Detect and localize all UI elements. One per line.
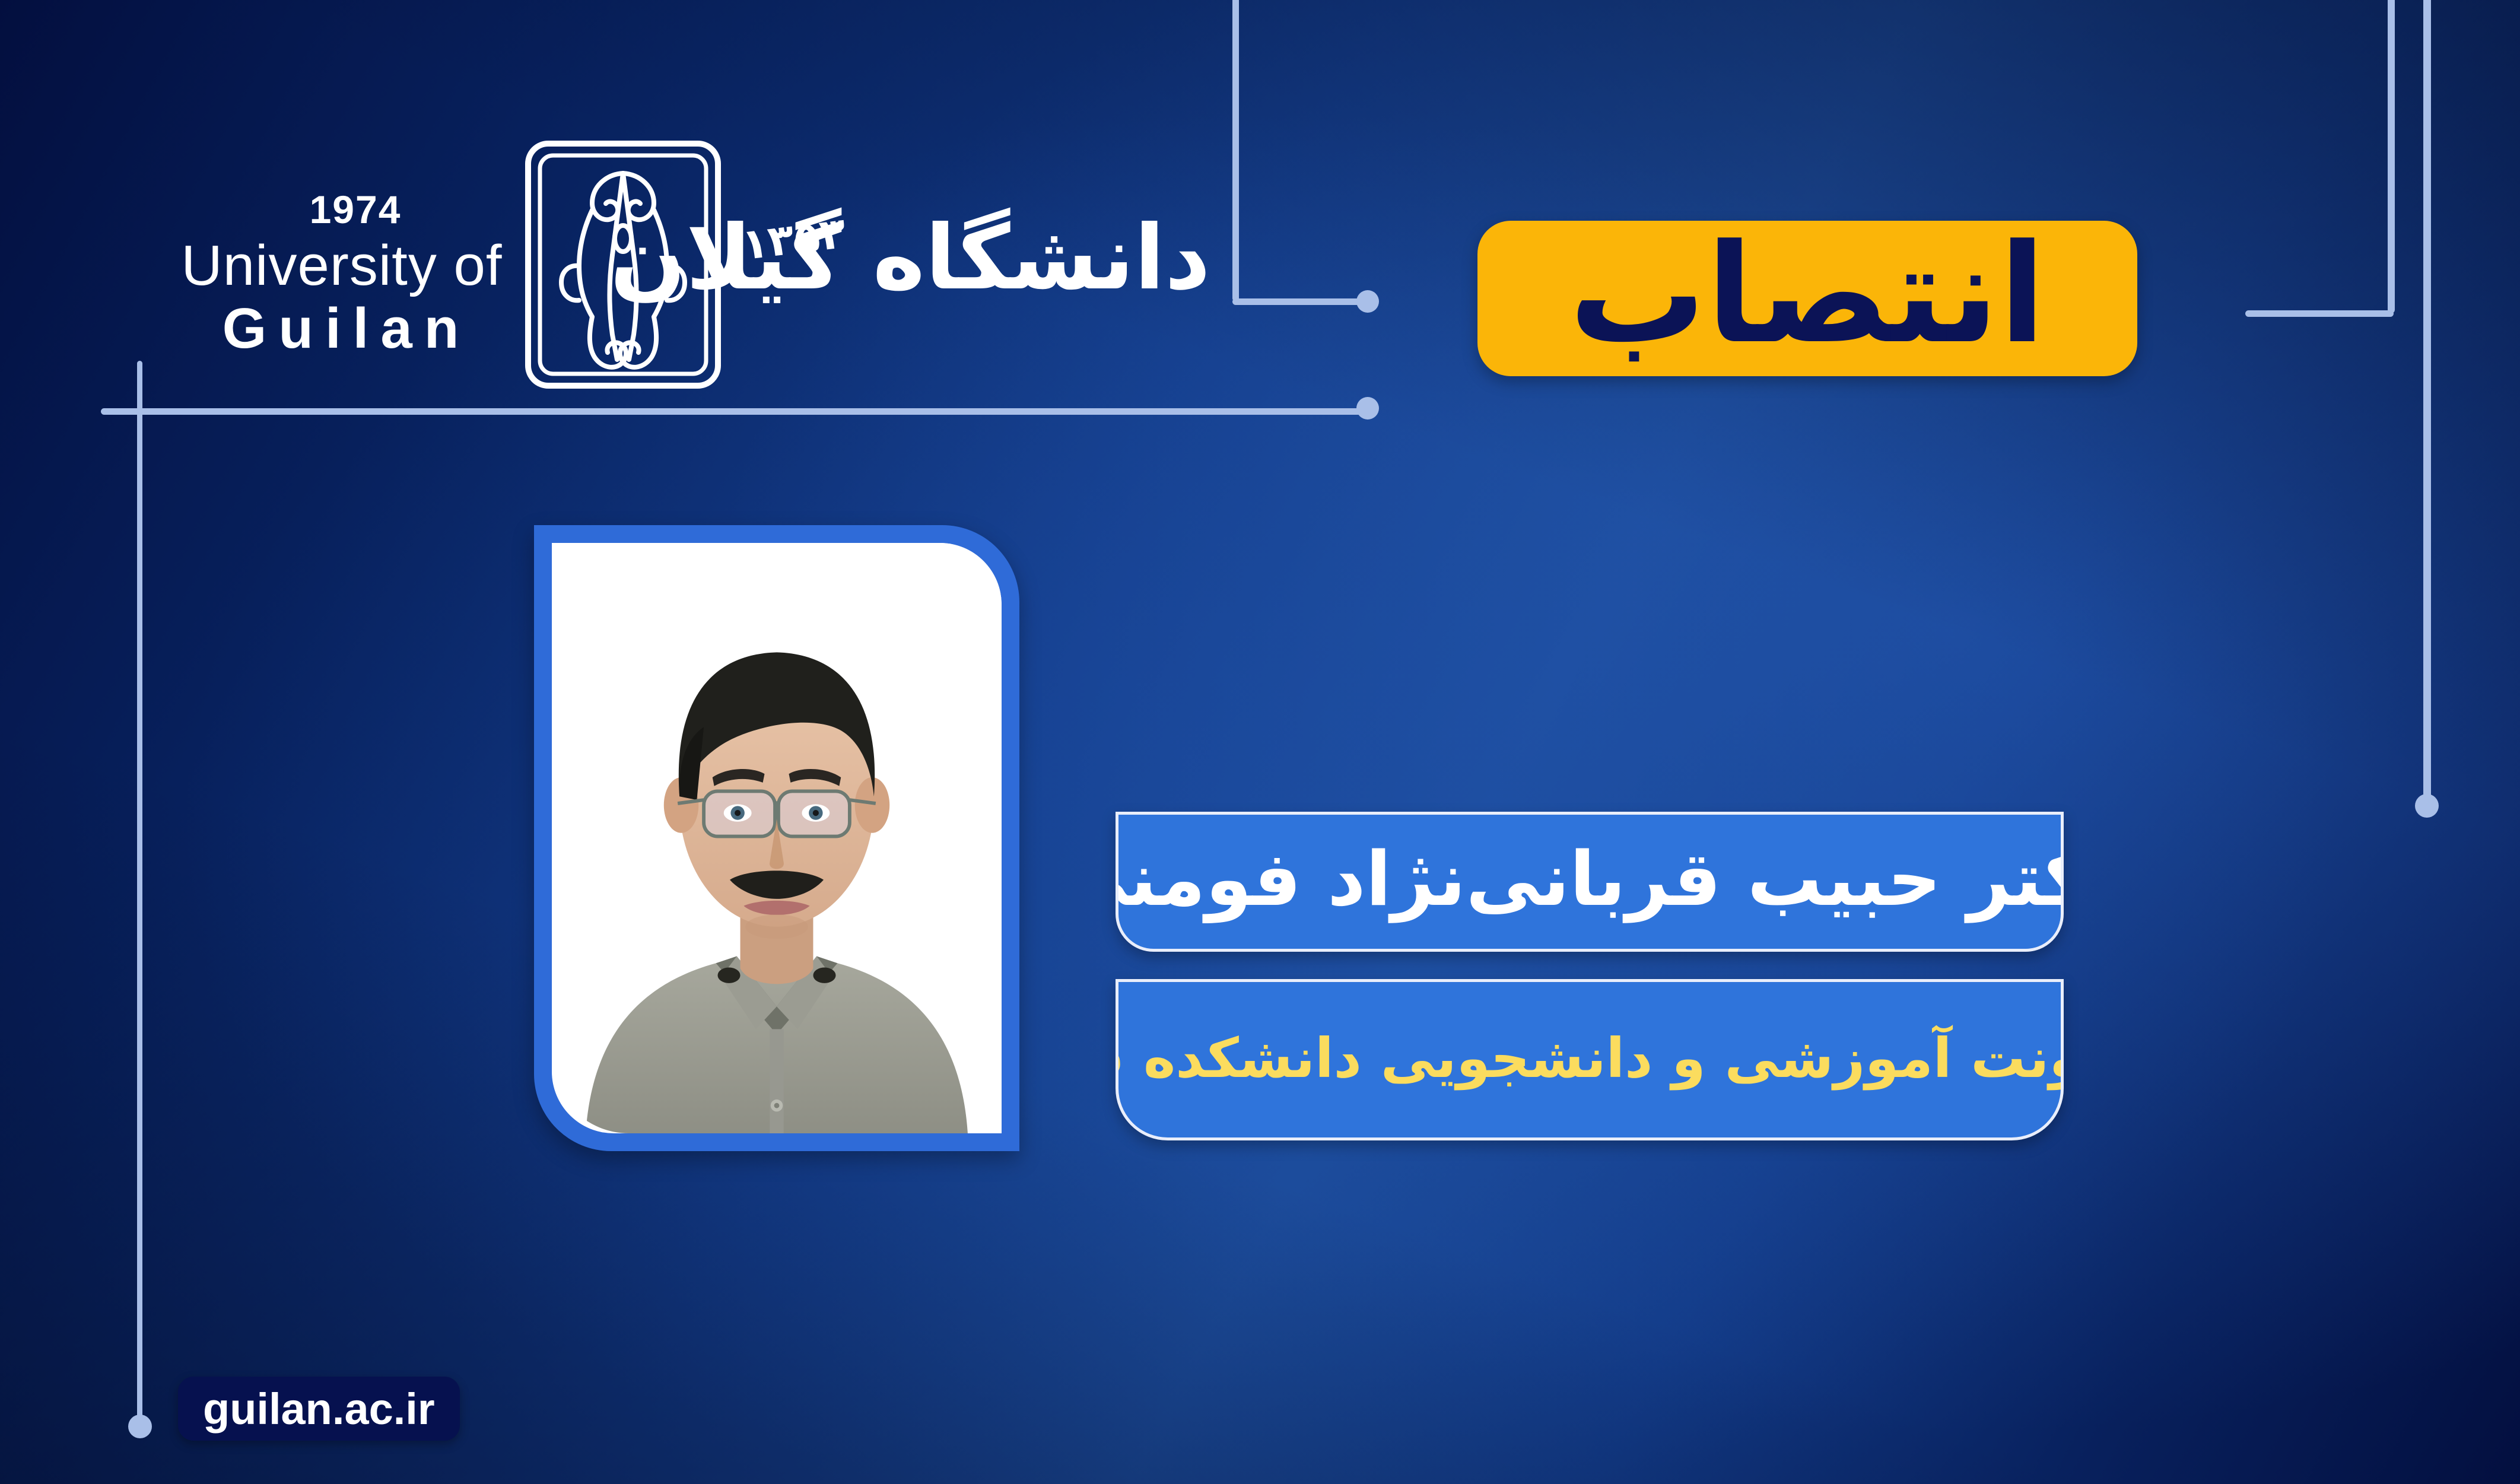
person-role: معاونت آموزشی و دانشجویی دانشکده فنی <box>1116 1031 2064 1086</box>
person-name: دکتر حبیب قربانی‌نژاد فومنی <box>1116 842 2064 917</box>
website-url-badge[interactable]: guilan.ac.ir <box>178 1377 460 1441</box>
deco-dot-upper <box>1356 290 1379 313</box>
deco-dot-right <box>2415 794 2439 818</box>
portrait-frame <box>534 525 1019 1151</box>
deco-dot-lower <box>1356 397 1379 420</box>
deco-hline-right <box>2245 310 2394 317</box>
deco-vline-mid <box>1232 0 1239 301</box>
website-url: guilan.ac.ir <box>203 1384 435 1434</box>
deco-vline-left <box>137 361 142 1429</box>
deco-vline-right-inner <box>2388 0 2395 313</box>
portrait-photo <box>552 543 1002 1133</box>
person-role-banner: معاونت آموزشی و دانشجویی دانشکده فنی <box>1116 979 2064 1140</box>
logo-persian-wordmark: دانشگاه گیلان <box>819 148 1210 457</box>
deco-vline-right-outer <box>2423 0 2431 806</box>
deco-dot-left <box>128 1415 152 1438</box>
headline-badge: انتصاب <box>1477 221 2137 376</box>
university-logo: 1974 University of Guilan <box>172 138 1216 393</box>
headline-label: انتصاب <box>1569 236 2045 354</box>
person-name-banner: دکتر حبیب قربانی‌نژاد فومنی <box>1116 812 2064 952</box>
logo-founding-year-latin: 1974 <box>203 190 508 229</box>
logo-university-word: University of <box>176 237 508 294</box>
deco-hline-mid <box>1232 298 1370 305</box>
logo-guilan-word: Guilan <box>185 300 508 357</box>
portrait-illustration <box>552 543 1002 1133</box>
announcement-poster: 1974 University of Guilan <box>0 0 2520 1484</box>
logo-english-lockup: 1974 University of Guilan <box>176 190 508 357</box>
